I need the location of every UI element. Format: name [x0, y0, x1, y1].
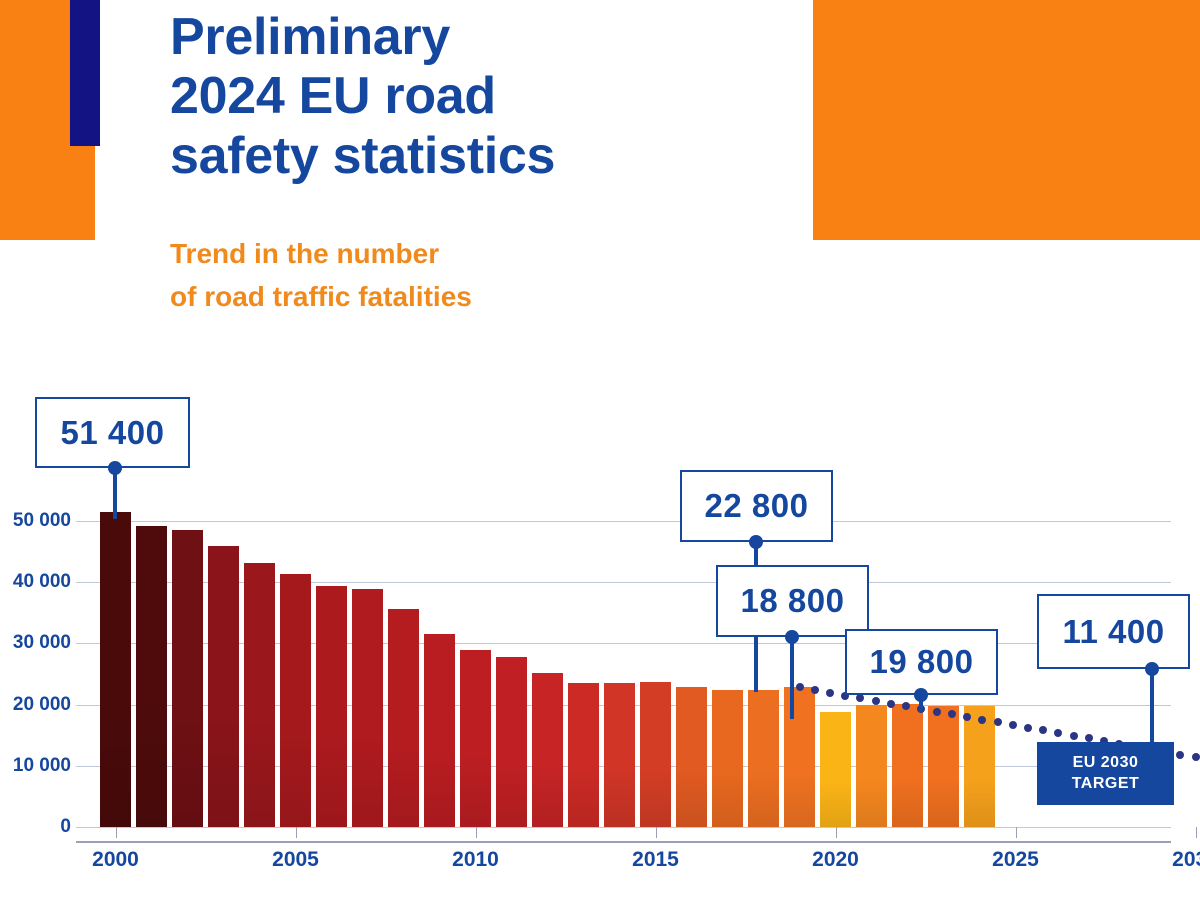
trendline-dot: [1192, 753, 1200, 761]
trendline-dot: [1070, 732, 1078, 740]
page-title: Preliminary 2024 EU road safety statisti…: [170, 8, 810, 186]
y-axis-tick-label: 10 000: [0, 755, 71, 777]
bar-2022[interactable]: [892, 704, 923, 827]
bar-2018[interactable]: [748, 690, 779, 827]
x-axis-tick-label: 2015: [632, 848, 679, 872]
chart-plot-area: 010 00020 00030 00040 00050 000200020052…: [76, 360, 1176, 900]
bar-2006[interactable]: [316, 586, 347, 827]
trendline-dot: [811, 686, 819, 694]
callout-2019-leader-dot: [749, 535, 763, 549]
callout-2023: 19 800: [845, 629, 998, 695]
callout-2000: 51 400: [35, 397, 190, 468]
callout-2030: 11 400: [1037, 594, 1190, 669]
bar-2023[interactable]: [928, 706, 959, 827]
x-axis-tick-mark: [296, 827, 297, 838]
bar-2001[interactable]: [136, 526, 167, 827]
bar-2021[interactable]: [856, 705, 887, 827]
trendline-dot: [994, 718, 1002, 726]
trendline-dot: [902, 702, 910, 710]
orange-block-right: [813, 0, 1200, 240]
trendline-dot: [1054, 729, 1062, 737]
bar-2014[interactable]: [604, 683, 635, 827]
x-axis-tick-mark: [1016, 827, 1017, 838]
x-axis-tick-mark: [1196, 827, 1197, 838]
bar-2009[interactable]: [424, 634, 455, 827]
gridline: [76, 827, 1171, 828]
bar-2017[interactable]: [712, 690, 743, 827]
y-axis-tick-label: 0: [0, 816, 71, 838]
bar-2003[interactable]: [208, 546, 239, 827]
x-axis-tick-label: 2020: [812, 848, 859, 872]
x-axis-tick-mark: [116, 827, 117, 838]
trendline-dot: [1176, 751, 1184, 759]
navy-accent-bar: [70, 0, 100, 146]
callout-2020-leader-dot: [785, 630, 799, 644]
callout-2000-leader-line: [113, 468, 117, 519]
x-axis-tick-label: 2005: [272, 848, 319, 872]
callout-2000-leader-dot: [108, 461, 122, 475]
bar-2004[interactable]: [244, 563, 275, 827]
trendline-dot: [963, 713, 971, 721]
trendline-dot: [887, 700, 895, 708]
bar-2015[interactable]: [640, 682, 671, 827]
callout-2030-leader-line: [1150, 669, 1154, 742]
x-axis-tick-mark: [476, 827, 477, 838]
trendline-dot: [948, 710, 956, 718]
trendline-dot: [933, 708, 941, 716]
y-axis-tick-label: 30 000: [0, 632, 71, 654]
trendline-dot: [796, 683, 804, 691]
gridline: [76, 643, 1171, 644]
callout-2019: 22 800: [680, 470, 833, 542]
x-axis-tick-label: 2010: [452, 848, 499, 872]
y-axis-tick-label: 50 000: [0, 510, 71, 532]
bar-2013[interactable]: [568, 683, 599, 827]
y-axis-tick-label: 40 000: [0, 571, 71, 593]
gridline: [76, 582, 1171, 583]
bar-2020[interactable]: [820, 712, 851, 827]
x-axis-tick-label: 2000: [92, 848, 139, 872]
trendline-dot: [872, 697, 880, 705]
x-axis-line: [76, 841, 1171, 843]
bar-2024[interactable]: [964, 706, 995, 827]
trendline-dot: [856, 694, 864, 702]
trendline-dot: [978, 716, 986, 724]
callout-2020: 18 800: [716, 565, 869, 637]
trendline-dot: [826, 689, 834, 697]
eu-2030-target-box: EU 2030 TARGET: [1037, 742, 1174, 805]
page-subtitle: Trend in the number of road traffic fata…: [170, 232, 790, 319]
x-axis-tick-label: 2025: [992, 848, 1039, 872]
bar-2005[interactable]: [280, 574, 311, 827]
bar-2002[interactable]: [172, 530, 203, 827]
infographic-page: Preliminary 2024 EU road safety statisti…: [0, 0, 1200, 900]
bar-2008[interactable]: [388, 609, 419, 827]
bar-2010[interactable]: [460, 650, 491, 827]
x-axis-tick-label: 2030: [1172, 848, 1200, 872]
bar-2019[interactable]: [784, 687, 815, 827]
x-axis-tick-mark: [656, 827, 657, 838]
x-axis-tick-mark: [836, 827, 837, 838]
trendline-dot: [1024, 724, 1032, 732]
bar-2011[interactable]: [496, 657, 527, 827]
trendline-dot: [1009, 721, 1017, 729]
gridline: [76, 521, 1171, 522]
callout-2030-leader-dot: [1145, 662, 1159, 676]
bar-2016[interactable]: [676, 687, 707, 827]
trendline-dot: [1039, 726, 1047, 734]
callout-2023-leader-dot: [914, 688, 928, 702]
y-axis-tick-label: 20 000: [0, 694, 71, 716]
bar-2012[interactable]: [532, 673, 563, 827]
bar-2000[interactable]: [100, 512, 131, 827]
bar-2007[interactable]: [352, 589, 383, 827]
callout-2020-leader-line: [790, 637, 794, 719]
